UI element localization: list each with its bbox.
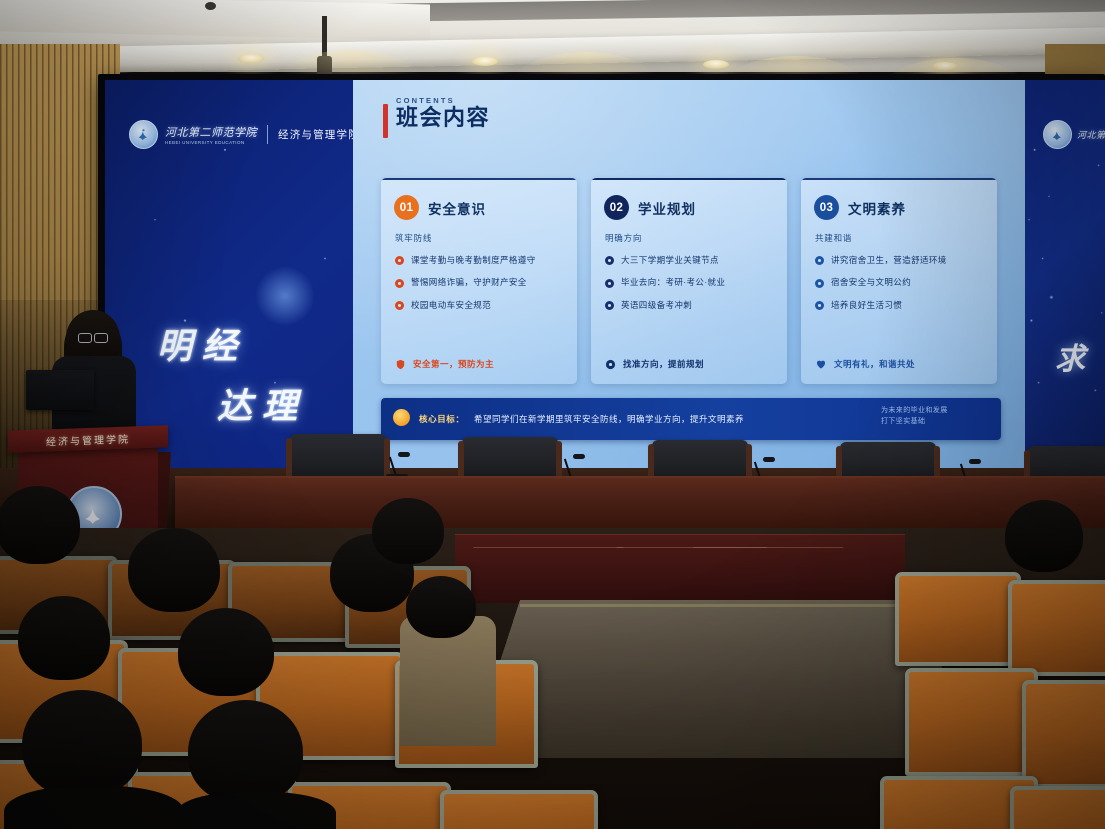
- card-footer: 找准方向，提前规划: [605, 358, 704, 370]
- card-accent-line: [801, 178, 997, 180]
- audience-head: [22, 690, 142, 798]
- auditorium-seat: [1010, 786, 1105, 829]
- card-title: 安全意识: [428, 198, 486, 218]
- list-item: 校园电动车安全规范: [395, 301, 567, 310]
- card-title: 文明素养: [848, 198, 906, 218]
- slide-title-block: CONTENTS 班会内容: [383, 96, 490, 138]
- bullet-dot-icon: [815, 301, 824, 310]
- university-crest-icon: [129, 120, 158, 149]
- slide-content-panel: CONTENTS 班会内容 01 安全意识 筑牢防线: [353, 80, 1025, 468]
- content-card[interactable]: 03 文明素养 共建和谐 讲究宿舍卫生，营造舒适环境 宿舍安全与文明公约: [801, 178, 997, 384]
- brand-logo-row: 河北第二师范学院: [1043, 120, 1105, 149]
- presenter-laptop: [26, 370, 94, 410]
- banner-right-line2: 打下坚实基础: [881, 417, 991, 428]
- card-number-badge: 03: [814, 195, 839, 220]
- audience-head: [1005, 500, 1083, 572]
- bullet-dot-icon: [815, 256, 824, 265]
- content-card[interactable]: 01 安全意识 筑牢防线 课堂考勤与晚考勤制度严格遵守 警惕网络诈骗，守护财产安…: [381, 178, 577, 384]
- auditorium-seat: [905, 668, 1038, 776]
- university-name-en: HEBEI UNIVERSITY EDUCATION: [165, 140, 257, 145]
- page-title: 班会内容: [396, 106, 490, 129]
- audience-head: [178, 608, 274, 696]
- university-name-cn: 河北第二师范学院: [1077, 128, 1105, 141]
- downlight-icon: [472, 57, 498, 66]
- audience-head: [128, 528, 220, 612]
- university-crest-icon: [1043, 120, 1072, 149]
- bullet-dot-icon: [605, 301, 614, 310]
- card-header: 03 文明素养: [814, 195, 906, 220]
- card-footer: 文明有礼，和谐共处: [815, 358, 915, 370]
- card-subtitle: 筑牢防线: [395, 232, 432, 244]
- audience-head: [0, 486, 80, 564]
- list-item: 英语四级备考冲刺: [605, 301, 777, 310]
- calligraphy-line-1: 明经: [157, 318, 247, 369]
- audience-head: [372, 498, 444, 564]
- stage-chair: [290, 434, 386, 482]
- bullet-text: 讲究宿舍卫生，营造舒适环境: [831, 256, 947, 265]
- card-bullet-list: 大三下学期学业关键节点 毕业去向：考研·考公·就业 英语四级备考冲刺: [605, 256, 777, 323]
- card-accent-line: [591, 178, 787, 180]
- core-goal-banner: 核心目标： 希望同学们在新学期里筑牢安全防线，明确学业方向，提升文明素养 为未来…: [381, 398, 1001, 440]
- university-name-cn: 河北第二师范学院: [165, 124, 257, 140]
- auditorium-seat: [1022, 680, 1105, 788]
- eyeglasses-icon: [78, 333, 108, 341]
- card-number-badge: 01: [394, 195, 419, 220]
- banner-right-text: 为未来的毕业和发展 打下坚实基础: [881, 406, 991, 428]
- shield-icon: [395, 359, 406, 370]
- stage-table: [175, 478, 1105, 533]
- list-item: 培养良好生活习惯: [815, 301, 987, 310]
- list-item: 讲究宿舍卫生，营造舒适环境: [815, 256, 987, 265]
- microphone-icon: [969, 459, 981, 464]
- card-header: 02 学业规划: [604, 195, 696, 220]
- downlight-icon: [932, 62, 958, 71]
- bullet-dot-icon: [395, 301, 404, 310]
- audience-shoulders: [4, 786, 184, 829]
- content-cards: 01 安全意识 筑牢防线 课堂考勤与晚考勤制度严格遵守 警惕网络诈骗，守护财产安…: [381, 178, 997, 384]
- bullet-dot-icon: [395, 279, 404, 288]
- banner-right-line1: 为未来的毕业和发展: [881, 406, 991, 417]
- card-accent-line: [381, 178, 577, 180]
- logo-divider: [267, 125, 268, 144]
- audience-shoulders: [176, 792, 336, 829]
- auditorium-seat: [1008, 580, 1105, 676]
- list-item: 课堂考勤与晚考勤制度严格遵守: [395, 256, 567, 265]
- bullet-text: 校园电动车安全规范: [411, 301, 491, 310]
- card-subtitle: 共建和谐: [815, 232, 852, 244]
- department-name: 经济与管理学院: [278, 127, 360, 142]
- ceiling-sensor-icon: [205, 2, 216, 10]
- list-item: 大三下学期学业关键节点: [605, 256, 777, 265]
- lightbulb-icon: [393, 409, 410, 426]
- downlight-icon: [238, 54, 264, 63]
- calligraphy-line-2: 达理: [217, 378, 307, 429]
- bullet-text: 大三下学期学业关键节点: [621, 256, 719, 265]
- card-subtitle: 明确方向: [605, 232, 642, 244]
- bullet-dot-icon: [605, 256, 614, 265]
- audience-head: [188, 700, 303, 804]
- bullet-dot-icon: [395, 256, 404, 265]
- lecture-hall-scene: 河北第二师范学院 HEBEI UNIVERSITY EDUCATION 经济与管…: [0, 0, 1105, 829]
- card-footer-text: 找准方向，提前规划: [623, 358, 704, 370]
- title-eyebrow: CONTENTS: [396, 96, 490, 105]
- audience-head: [406, 576, 476, 638]
- card-footer-text: 安全第一，预防为主: [413, 358, 494, 370]
- bullet-text: 英语四级备考冲刺: [621, 301, 692, 310]
- bullet-text: 警惕网络诈骗，守护财产安全: [411, 278, 527, 287]
- bullet-dot-icon: [815, 279, 824, 288]
- adjacent-slide-preview[interactable]: 河北第二师范学院 求: [1025, 80, 1105, 468]
- heart-icon: [815, 358, 827, 370]
- compass-icon: [605, 359, 616, 370]
- adjacent-calligraphy: 求: [1055, 334, 1085, 378]
- card-header: 01 安全意识: [394, 195, 486, 220]
- microphone-icon: [763, 457, 775, 462]
- list-item: 宿舍安全与文明公约: [815, 278, 987, 287]
- audience-head: [18, 596, 110, 680]
- microphone-icon: [398, 452, 410, 457]
- list-item: 警惕网络诈骗，守护财产安全: [395, 278, 567, 287]
- card-footer-text: 文明有礼，和谐共处: [834, 358, 915, 370]
- panel-chevron: [693, 547, 867, 576]
- auditorium-seat: [440, 790, 598, 829]
- bullet-text: 课堂考勤与晚考勤制度严格遵守: [411, 256, 536, 265]
- auditorium-seat: [895, 572, 1021, 666]
- list-item: 毕业去向：考研·考公·就业: [605, 278, 777, 287]
- banner-text: 希望同学们在新学期里筑牢安全防线，明确学业方向，提升文明素养: [474, 413, 744, 425]
- bullet-text: 培养良好生活习惯: [831, 301, 902, 310]
- bullet-text: 毕业去向：考研·考公·就业: [621, 278, 725, 287]
- card-bullet-list: 课堂考勤与晚考勤制度严格遵守 警惕网络诈骗，守护财产安全 校园电动车安全规范: [395, 256, 567, 323]
- bullet-dot-icon: [605, 279, 614, 288]
- bullet-text: 宿舍安全与文明公约: [831, 278, 911, 287]
- presentation-screen[interactable]: 河北第二师范学院 HEBEI UNIVERSITY EDUCATION 经济与管…: [105, 80, 1105, 468]
- card-footer: 安全第一，预防为主: [395, 358, 494, 370]
- card-bullet-list: 讲究宿舍卫生，营造舒适环境 宿舍安全与文明公约 培养良好生活习惯: [815, 256, 987, 323]
- wood-wall-panel: [455, 534, 905, 603]
- card-number-badge: 02: [604, 195, 629, 220]
- microphone-icon: [573, 454, 585, 459]
- banner-label: 核心目标：: [419, 413, 465, 425]
- title-accent-bar: [383, 104, 388, 138]
- downlight-icon: [703, 60, 729, 69]
- brand-logo-row: 河北第二师范学院 HEBEI UNIVERSITY EDUCATION 经济与管…: [129, 120, 360, 149]
- content-card[interactable]: 02 学业规划 明确方向 大三下学期学业关键节点 毕业去向：考研·考公·就业: [591, 178, 787, 384]
- card-title: 学业规划: [638, 198, 696, 218]
- aisle-edge-line: [520, 604, 920, 607]
